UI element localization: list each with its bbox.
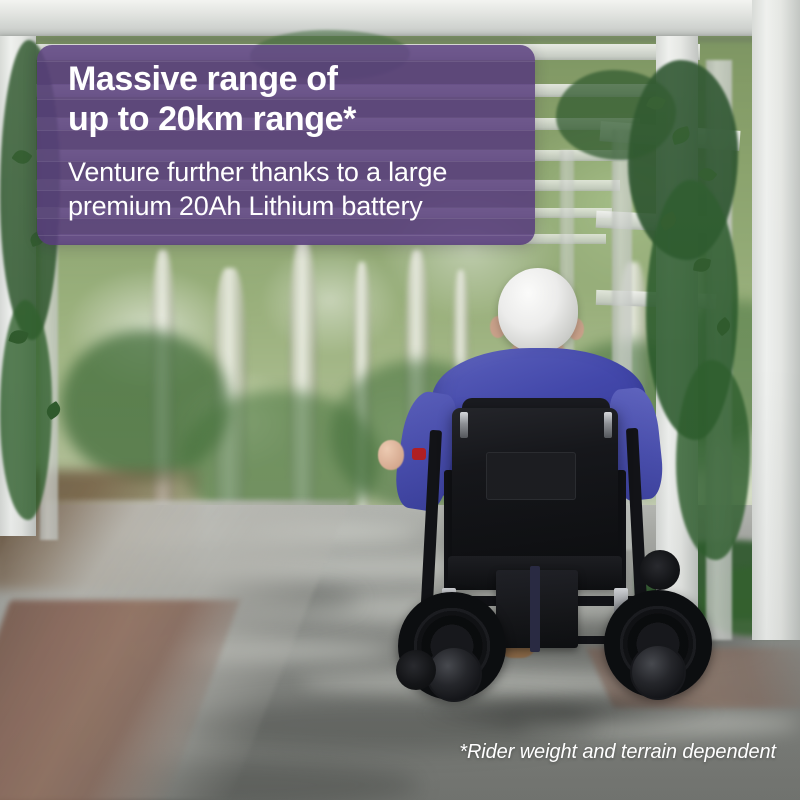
product-feature-banner: Massive range of up to 20km range* Ventu… <box>0 0 800 800</box>
disclaimer-caption: *Rider weight and terrain dependent <box>459 741 776 764</box>
headline: Massive range of up to 20km range* <box>68 59 521 139</box>
panel-text-block: Massive range of up to 20km range* Ventu… <box>68 59 521 223</box>
subheadline: Venture further thanks to a large premiu… <box>68 155 521 223</box>
marketing-text-panel: Massive range of up to 20km range* Ventu… <box>37 45 535 245</box>
